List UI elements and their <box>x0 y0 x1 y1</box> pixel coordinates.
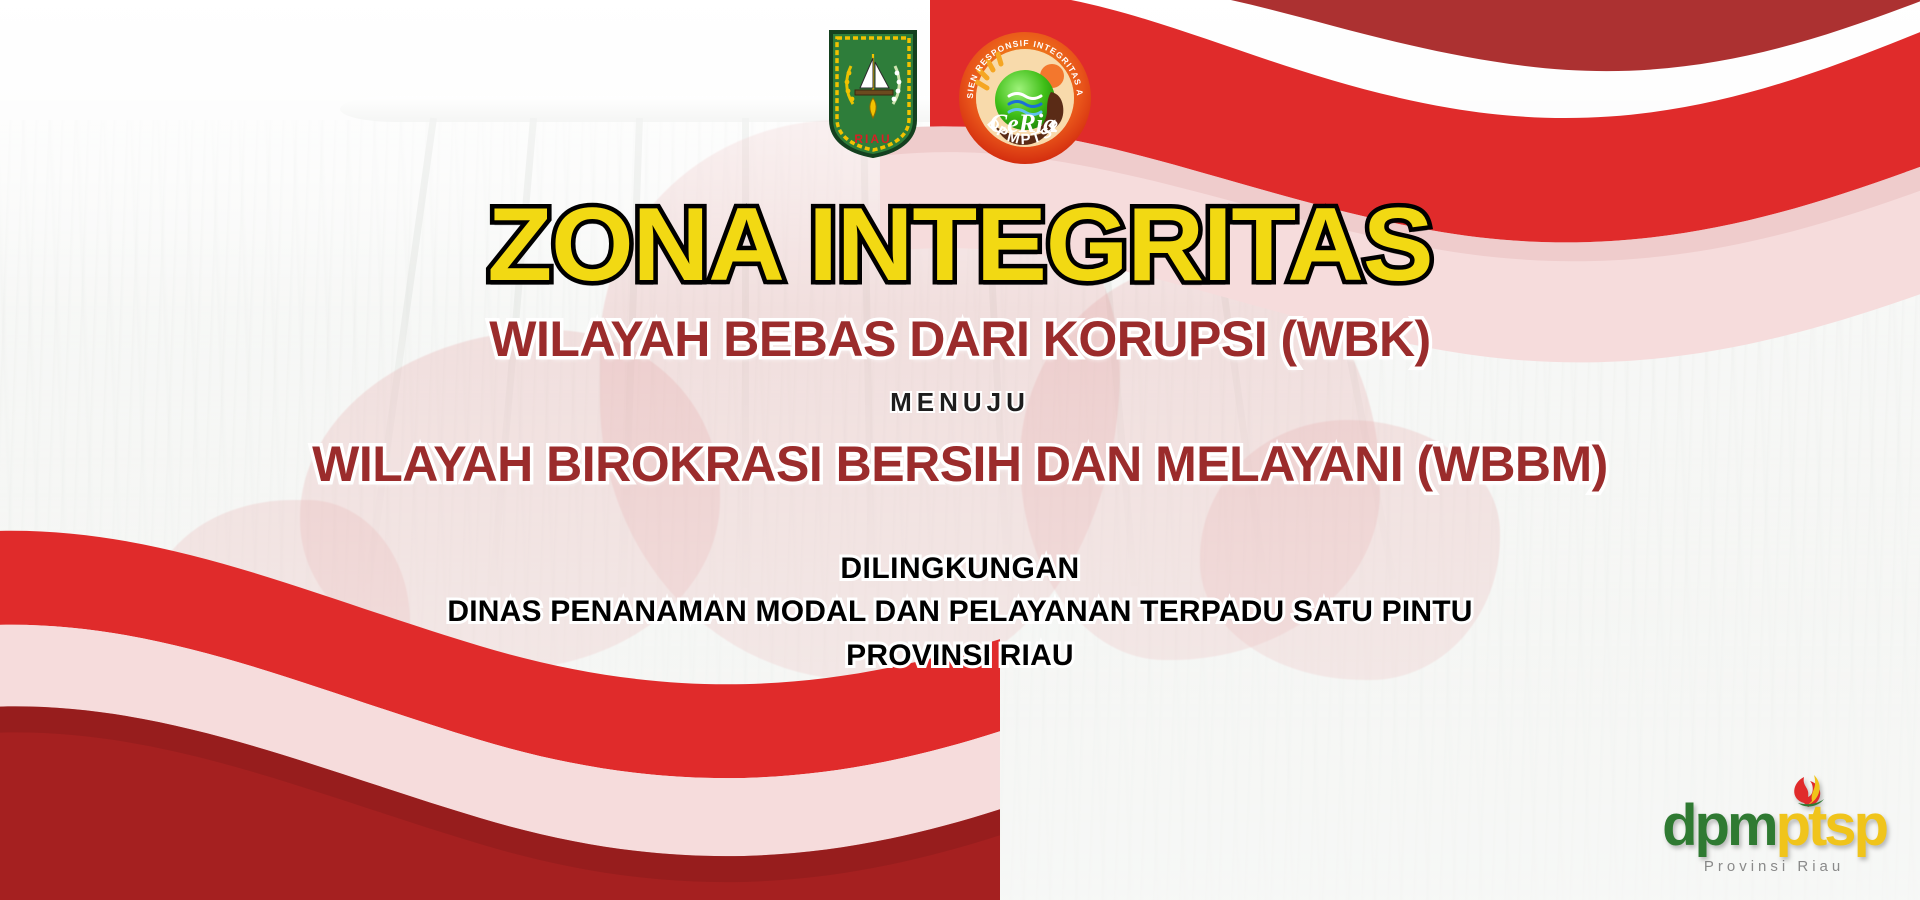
dpmptsp-flame-icon <box>1784 773 1830 809</box>
dpmptsp-wordmark-logo: dpmptsp Provinsi Riau <box>1662 797 1886 874</box>
banner-content: ZONA INTEGRITAS WILAYAH BEBAS DARI KORUP… <box>0 0 1920 676</box>
footer-line-dilingkungan: DILINGKUNGAN <box>0 549 1920 589</box>
subtitle-wbbm: WILAYAH BIROKRASI BERSIH DAN MELAYANI (W… <box>0 438 1920 491</box>
footer-text-block: DILINGKUNGAN DINAS PENANAMAN MODAL DAN P… <box>0 549 1920 676</box>
dpmptsp-word-dpm: dpm <box>1662 793 1775 858</box>
footer-line-provinsi: PROVINSI RIAU <box>0 636 1920 676</box>
zona-integritas-banner: RIAU <box>0 0 1920 900</box>
connector-menuju: MENUJU <box>0 387 1920 418</box>
dpmptsp-subtitle: Provinsi Riau <box>1662 859 1886 874</box>
footer-line-dinas: DINAS PENANAMAN MODAL DAN PELAYANAN TERP… <box>0 592 1920 632</box>
page-title: ZONA INTEGRITAS <box>0 0 1920 295</box>
subtitle-wbk: WILAYAH BEBAS DARI KORUPSI (WBK) <box>0 313 1920 366</box>
dpmptsp-wordmark: dpmptsp <box>1662 797 1886 855</box>
